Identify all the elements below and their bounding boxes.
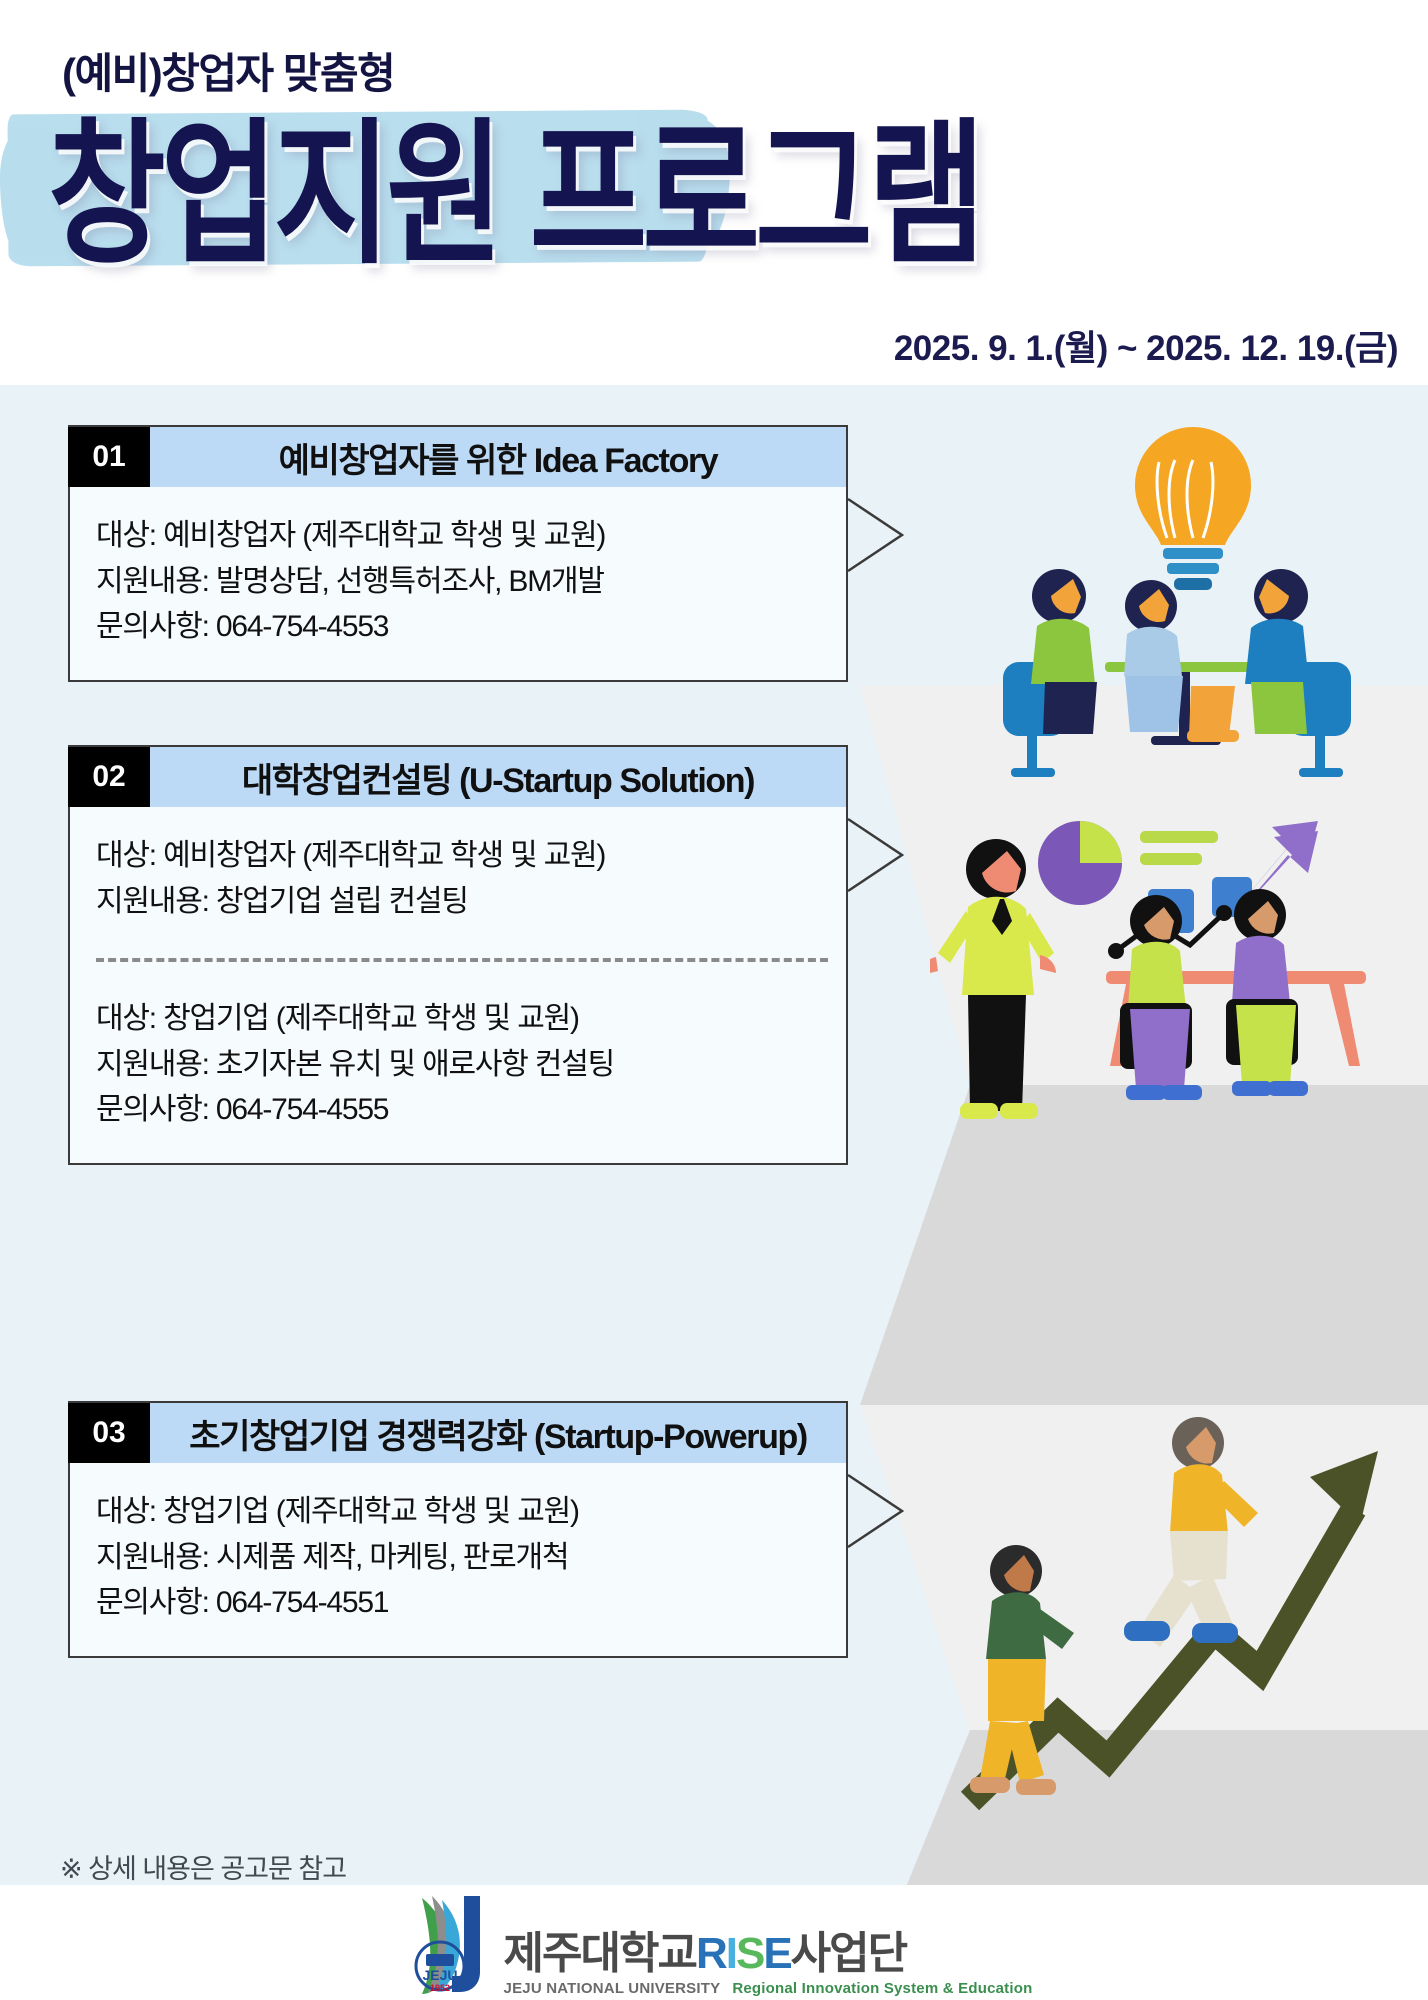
card-01-header: 01 예비창업자를 위한 Idea Factory [68, 425, 848, 487]
poster-footer: JEJU 1952 제주대학교 R I S E 사업단 JEJU NATIONA… [0, 1885, 1428, 2000]
card-03-contact: 문의사항: 064-754-4551 [96, 1580, 846, 1626]
card-02-target-a: 대상: 예비창업자 (제주대학교 학생 및 교원) [96, 833, 846, 879]
card-02-number: 02 [68, 747, 150, 807]
logo-letter-e: E [763, 1932, 790, 1976]
program-card-02[interactable]: 02 대학창업컨설팅 (U-Startup Solution) 대상: 예비창업… [68, 745, 848, 1165]
card-02-contact: 문의사항: 064-754-4555 [96, 1087, 846, 1133]
footnote-text: ※ 상세 내용은 공고문 참고 [60, 1847, 346, 1886]
logo-text-block: 제주대학교 R I S E 사업단 JEJU NATIONAL UNIVERSI… [504, 1932, 1033, 1996]
card-01-target: 대상: 예비창업자 (제주대학교 학생 및 교원) [96, 513, 846, 559]
growth-arrow-climbers-icon [930, 1385, 1400, 1815]
card-03-body: 대상: 창업기업 (제주대학교 학생 및 교원) 지원내용: 시제품 제작, 마… [70, 1463, 846, 1656]
card-02-title: 대학창업컨설팅 (U-Startup Solution) [150, 747, 848, 807]
card-02-header: 02 대학창업컨설팅 (U-Startup Solution) [68, 745, 848, 807]
card-02-support-b: 지원내용: 초기자본 유치 및 애로사항 컨설팅 [96, 1042, 846, 1088]
card-03-title: 초기창업기업 경쟁력강화 (Startup-Powerup) [150, 1403, 848, 1463]
card-02-support-a: 지원내용: 창업기업 설립 컨설팅 [96, 879, 846, 925]
card-03-target: 대상: 창업기업 (제주대학교 학생 및 교원) [96, 1489, 846, 1535]
logo-subtitle-university: JEJU NATIONAL UNIVERSITY [504, 1981, 721, 1996]
logo-letter-s: S [736, 1932, 763, 1976]
lightbulb-meeting-icon [955, 400, 1395, 800]
card-01-support: 지원내용: 발명상담, 선행특허조사, BM개발 [96, 559, 846, 605]
logo-letter-r: R [696, 1932, 726, 1976]
card-01-contact: 문의사항: 064-754-4553 [96, 604, 846, 650]
logo-saupdan: 사업단 [791, 1932, 906, 1976]
svg-text:1952: 1952 [430, 1983, 450, 1993]
logo-letter-i: I [726, 1932, 736, 1976]
card-02-divider [96, 958, 828, 962]
card-01-number: 01 [68, 427, 150, 487]
card-01-body: 대상: 예비창업자 (제주대학교 학생 및 교원) 지원내용: 발명상담, 선행… [70, 487, 846, 680]
card-02-body: 대상: 예비창업자 (제주대학교 학생 및 교원) 지원내용: 창업기업 설립 … [70, 807, 846, 1163]
poster-header: (예비)창업자 맞춤형 창업지원 프로그램 2025. 9. 1.(월) ~ 2… [0, 0, 1428, 385]
logo-subtitle-rise: Regional Innovation System & Education [732, 1981, 1032, 1996]
card-pointer-3 [846, 1473, 956, 1553]
program-date-range: 2025. 9. 1.(월) ~ 2025. 12. 19.(금) [894, 320, 1398, 371]
logo-main-line: 제주대학교 R I S E 사업단 [504, 1932, 1033, 1976]
card-03-support: 지원내용: 시제품 제작, 마케팅, 판로개척 [96, 1535, 846, 1581]
svg-text:JEJU: JEJU [422, 1967, 457, 1983]
card-pointer-2 [846, 817, 956, 897]
card-03-header: 03 초기창업기업 경쟁력강화 (Startup-Powerup) [68, 1401, 848, 1463]
poster-body: 01 예비창업자를 위한 Idea Factory 대상: 예비창업자 (제주대… [0, 385, 1428, 2000]
card-03-number: 03 [68, 1403, 150, 1463]
card-01-title: 예비창업자를 위한 Idea Factory [150, 427, 848, 487]
poster-root: (예비)창업자 맞춤형 창업지원 프로그램 2025. 9. 1.(월) ~ 2… [0, 0, 1428, 2000]
card-pointer-1 [846, 497, 956, 577]
logo-sub-line: JEJU NATIONAL UNIVERSITY Regional Innova… [504, 1981, 1033, 1996]
poster-subtitle: (예비)창업자 맞춤형 [62, 40, 394, 101]
jnu-rise-logo: JEJU 1952 제주대학교 R I S E 사업단 JEJU NATIONA… [396, 1890, 1033, 1996]
poster-title: 창업지원 프로그램 [48, 118, 981, 274]
program-card-01[interactable]: 01 예비창업자를 위한 Idea Factory 대상: 예비창업자 (제주대… [68, 425, 848, 682]
program-card-03[interactable]: 03 초기창업기업 경쟁력강화 (Startup-Powerup) 대상: 창업… [68, 1401, 848, 1658]
card-02-target-b: 대상: 창업기업 (제주대학교 학생 및 교원) [96, 996, 846, 1042]
presentation-consulting-icon [930, 803, 1400, 1223]
jeju-emblem-icon: JEJU 1952 [396, 1890, 500, 1996]
logo-jnu-korean: 제주대학교 [504, 1932, 696, 1976]
